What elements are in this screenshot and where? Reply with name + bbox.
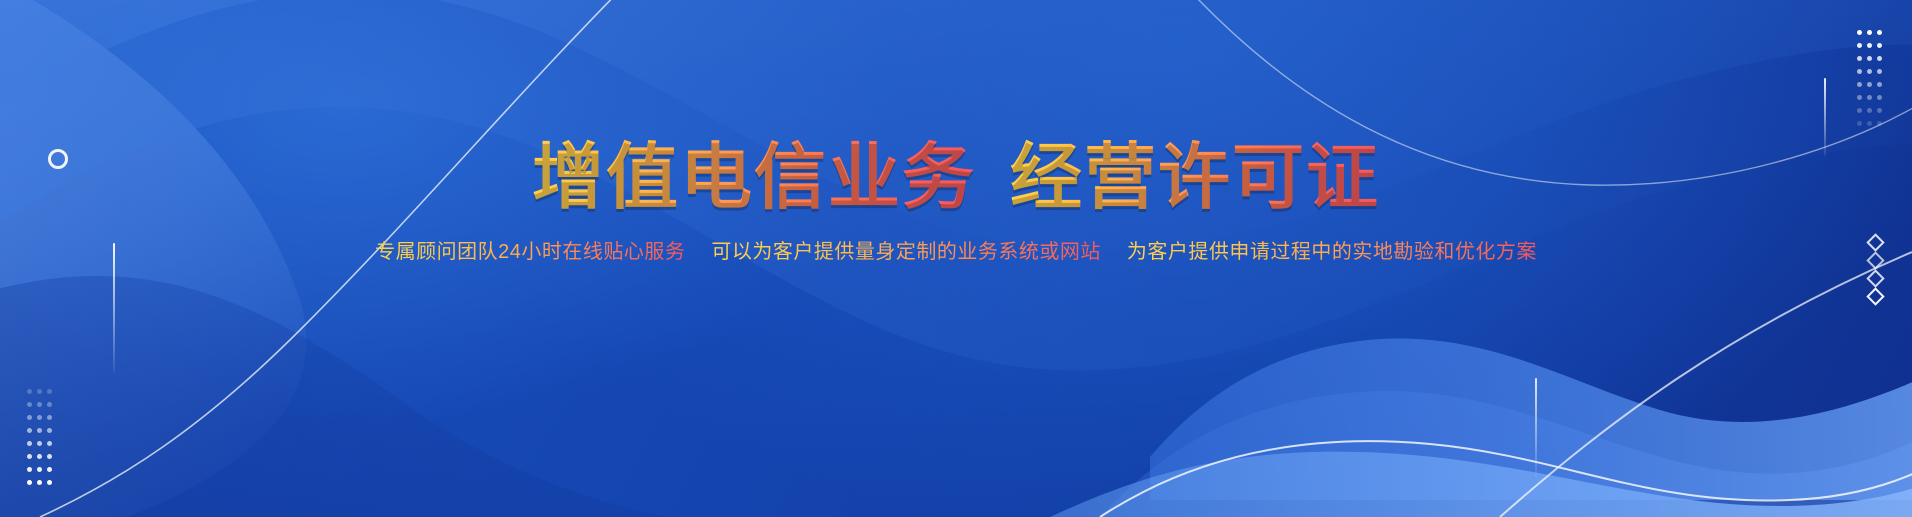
subtitle-item-3: 为客户提供申请过程中的实地勘验和优化方案 <box>1127 240 1537 264</box>
banner-subtitle: 专属顾问团队24小时在线贴心服务可以为客户提供量身定制的业务系统或网站为客户提供… <box>375 240 1537 264</box>
headline-segment-2: 经营许可证 <box>1010 138 1380 218</box>
headline-segment-1: 增值电信业务 <box>532 138 976 218</box>
promo-banner: 增值电信业务经营许可证 专属顾问团队24小时在线贴心服务可以为客户提供量身定制的… <box>0 0 1912 517</box>
subtitle-item-1: 专属顾问团队24小时在线贴心服务 <box>375 240 685 264</box>
banner-content: 增值电信业务经营许可证 专属顾问团队24小时在线贴心服务可以为客户提供量身定制的… <box>0 0 1912 517</box>
subtitle-item-2: 可以为客户提供量身定制的业务系统或网站 <box>711 240 1101 264</box>
banner-headline: 增值电信业务经营许可证 <box>532 142 1380 214</box>
